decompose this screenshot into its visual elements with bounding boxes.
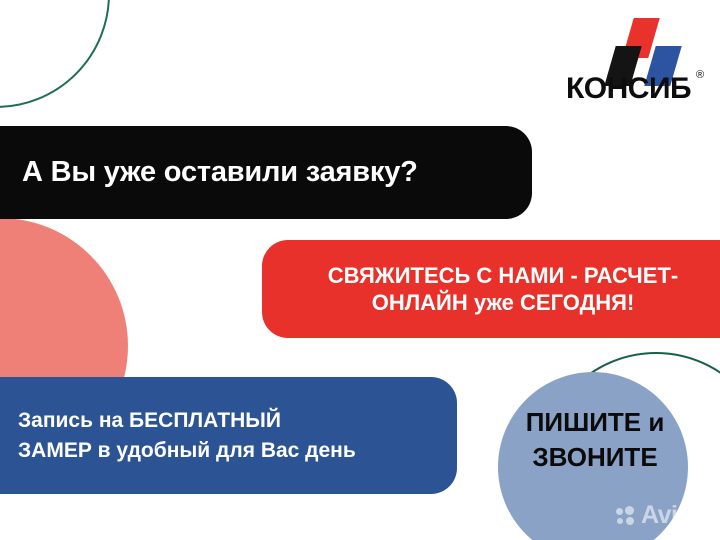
banner-question-text: А Вы уже оставили заявку? <box>22 156 418 189</box>
cta-write-and-call-text: ПИШИТЕ и ЗВОНИТЕ <box>493 405 697 475</box>
avito-dots-icon <box>616 506 638 526</box>
promo-banner-canvas: КОНСИБ ® А Вы уже оставили заявку? СВЯЖИ… <box>0 0 720 540</box>
brand-name: КОНСИБ <box>566 72 706 106</box>
banner-free-measurement-text: Запись на БЕСПЛАТНЫЙ ЗАМЕР в удобный для… <box>18 406 356 466</box>
registered-trademark-icon: ® <box>696 70 704 81</box>
decorative-green-ring-top-left <box>0 0 110 108</box>
brand-logo: КОНСИБ ® <box>566 18 706 110</box>
banner-contact-text: СВЯЖИТЕСЬ С НАМИ - РАСЧЕТ- ОНЛАЙН уже СЕ… <box>284 262 720 316</box>
banner-free-measurement: Запись на БЕСПЛАТНЫЙ ЗАМЕР в удобный для… <box>0 377 457 494</box>
avito-watermark-text: Avito <box>641 503 700 528</box>
logo-mark-group <box>566 18 706 74</box>
banner-contact: СВЯЖИТЕСЬ С НАМИ - РАСЧЕТ- ОНЛАЙН уже СЕ… <box>262 240 720 338</box>
banner-question: А Вы уже оставили заявку? <box>0 126 532 219</box>
avito-watermark: Avito <box>616 503 700 528</box>
